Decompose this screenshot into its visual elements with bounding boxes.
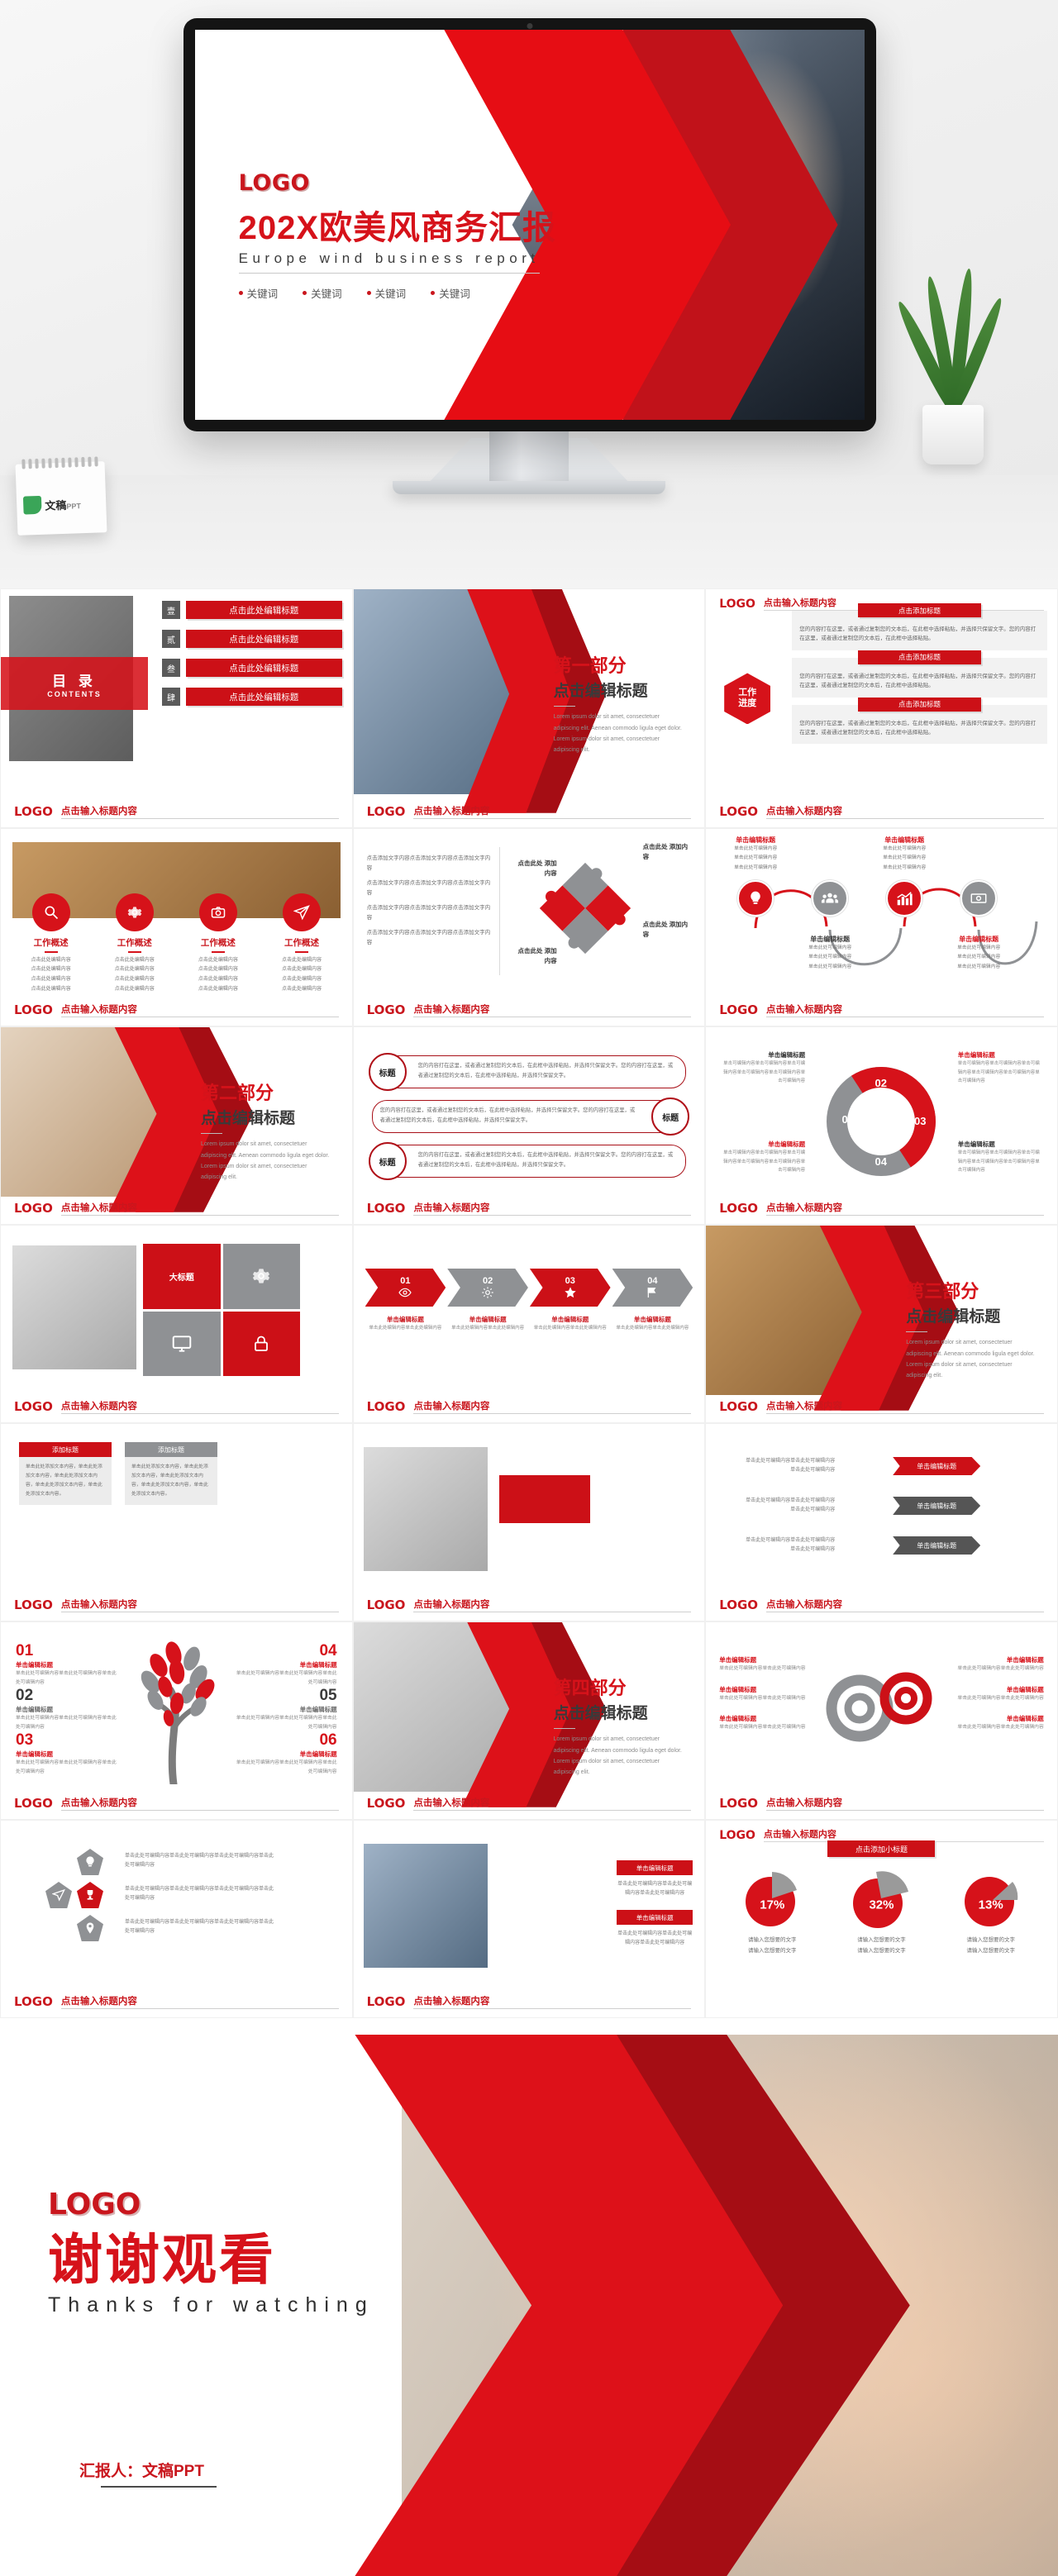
footer-title: 点击输入标题内容 (413, 1796, 691, 1811)
final-text-block: LOGO 谢谢观看 Thanks for watching (48, 2188, 374, 2317)
pentagon-send[interactable] (45, 1882, 72, 1908)
cycle-label: 单击编辑标题 单击可编辑内容单击可编辑内容单击可编辑内容单击可编辑内容单击可编辑… (719, 1140, 805, 1175)
pie-chart-cell[interactable]: 32% 请输入您想要的文字 请输入您想要的文字 (827, 1870, 936, 1956)
arrow-step[interactable]: 01 (365, 1269, 446, 1307)
thumbnail-tree-infographic[interactable]: 01 单击编辑标题 单击此处可编辑内容单击此处可编辑内容单击此处可编辑内容 02… (0, 1621, 353, 1820)
gear-item[interactable]: 单击编辑标题 单击此处可编辑内容单击此处可编辑内容 (719, 1714, 817, 1732)
bullet-dot-icon (239, 291, 243, 295)
slide-footer: LOGO 点击输入标题内容 (367, 804, 692, 819)
slide-footer: LOGO 点击输入标题内容 (719, 1399, 1044, 1414)
presenter-label: 汇报人：文稿PPT (79, 2459, 204, 2481)
title-circle-badge: 标题 (369, 1142, 407, 1180)
thumbnail-section-three[interactable]: 第三部分 点击编辑标题 Lorem ipsum dolor sit amet, … (705, 1225, 1058, 1423)
tile-grid: 大标题 (143, 1244, 300, 1376)
wave-flow-diagram: 单击编辑标题 单击此处可编辑内容 单击此处可编辑内容 单击此处可编辑内容 单击编… (706, 829, 1057, 1026)
camera-icon (199, 893, 237, 931)
thumbnail-puzzle[interactable]: 点击添加文字内容点击添加文字内容点击添加文字内容 点击添加文字内容点击添加文字内… (353, 828, 706, 1026)
cycle-number: 02 (875, 1077, 886, 1089)
tree-item-body: 单击此处可编辑内容单击此处可编辑内容单击此处可编辑内容 (16, 1714, 119, 1732)
arrow-step-caption: 单击编辑标题 单击此处编辑内容单击此处编辑内容 (612, 1315, 693, 1332)
arrow-step-caption: 单击编辑标题 单击此处编辑内容单击此处编辑内容 (530, 1315, 611, 1332)
gear-item[interactable]: 单击编辑标题 单击此处可编辑内容单击此处可编辑内容 (719, 1685, 817, 1703)
desk-calendar-watermark: 文稿PPT (16, 461, 107, 536)
footer-title: 点击输入标题内容 (413, 804, 691, 819)
gear-item-title: 单击编辑标题 (719, 1714, 817, 1723)
pie-caption: 请输入您想要的文字 请输入您想要的文字 (717, 1935, 827, 1956)
cycle-label-body: 单击可编辑内容单击可编辑内容单击可编辑内容单击可编辑内容单击可编辑内容单击可编辑… (719, 1149, 805, 1175)
keyword-label: 关键词 (247, 285, 279, 301)
tree-item-number: 01 (16, 1642, 119, 1660)
keyword-label: 关键词 (375, 285, 407, 301)
footer-title: 点击输入标题内容 (413, 1399, 691, 1414)
pie-chart-row: 17% 请输入您想要的文字 请输入您想要的文字 32% 请输入您想要的文字 (717, 1870, 1046, 1956)
footer-logo: LOGO (367, 1598, 406, 1612)
overview-cell[interactable]: 工作概述 点击此处编辑内容 点击此处编辑内容 点击此处编辑内容 点击此处编辑内容 (93, 893, 176, 994)
footer-title: 点击输入标题内容 (413, 1002, 691, 1017)
arrow-caption-title: 单击编辑标题 (447, 1315, 528, 1324)
arrow-step[interactable]: 02 (447, 1269, 528, 1307)
slide-footer: LOGO 点击输入标题内容 (719, 1796, 1044, 1811)
underline-rule (128, 951, 141, 953)
tile-lock[interactable] (223, 1312, 301, 1377)
arrow-step[interactable]: 03 (530, 1269, 611, 1307)
arrow-caption-body: 单击此处编辑内容单击此处编辑内容 (612, 1324, 693, 1332)
wave-label: 单击编辑标题 单击此处可编辑内容 单击此处可编辑内容 单击此处可编辑内容 (790, 935, 870, 972)
slide-footer: LOGO 点击输入标题内容 (367, 1598, 692, 1612)
gear-icon (116, 893, 154, 931)
slide-footer: LOGO 点击输入标题内容 (719, 1201, 1044, 1216)
pie-chart-caption: 点击添加小标题 (827, 1840, 935, 1857)
arrow-step-number: 02 (483, 1276, 493, 1286)
document-photo (364, 1844, 488, 1968)
tree-item-title: 单击编辑标题 (234, 1660, 337, 1669)
thumbnail-wave-flow[interactable]: 单击编辑标题 单击此处可编辑内容 单击此处可编辑内容 单击此处可编辑内容 单击编… (705, 828, 1058, 1026)
gear-item-body: 单击此处可编辑内容单击此处可编辑内容 (719, 1664, 817, 1674)
logo-text: LOGO (239, 170, 556, 196)
divider-rule (201, 1133, 222, 1135)
thumbnail-section-one[interactable]: 第一部分 点击编辑标题 Lorem ipsum dolor sit amet, … (353, 588, 706, 828)
section-title: 点击编辑标题 (554, 1701, 684, 1723)
hero-monitor-mockup: LOGO 202X欧美风商务汇报 Europe wind business re… (0, 0, 1058, 588)
tree-item-number: 05 (234, 1687, 337, 1705)
overview-cell-title: 工作概述 (176, 936, 260, 949)
footer-logo: LOGO (367, 1994, 406, 2009)
progress-hexagon: 工作 进度 (724, 673, 770, 724)
puzzle-paragraph: 点击添加文字内容点击添加文字内容点击添加文字内容 (367, 928, 491, 948)
toc-heading-cn: 目 录 (52, 669, 97, 690)
footer-logo: LOGO (367, 804, 406, 819)
puzzle-label: 点击此处 添加内容 (517, 946, 557, 965)
gear-item[interactable]: 单击编辑标题 单击此处可编辑内容单击此处可编辑内容 (946, 1685, 1044, 1703)
title-slide: LOGO 202X欧美风商务汇报 Europe wind business re… (195, 30, 865, 420)
gear-icon (250, 1265, 272, 1287)
progress-item-caption: 点击添加标题 (858, 650, 980, 664)
tree-item-body: 单击此处可编辑内容单击此处可编辑内容单击此处可编辑内容 (16, 1669, 119, 1688)
eye-icon (398, 1286, 412, 1299)
puzzle-label: 点击此处 添加内容 (643, 842, 693, 861)
footer-title: 点击输入标题内容 (766, 1399, 1044, 1414)
lock-icon (251, 1334, 271, 1354)
progress-item-text: 您的内容打在这里，或者通过复制您的文本后，在此框中选择粘贴，并选择只保留文字。您… (799, 625, 1040, 644)
star-icon (564, 1286, 577, 1299)
cycle-number: 03 (914, 1115, 926, 1127)
cycle-label: 单击编辑标题 单击可编辑内容单击可编辑内容单击可编辑内容单击可编辑内容单击可编辑… (719, 1050, 805, 1086)
tree-item[interactable]: 06 单击编辑标题 单击此处可编辑内容单击此处可编辑内容单击此处可编辑内容 (234, 1731, 337, 1777)
tree-item[interactable]: 04 单击编辑标题 单击此处可编辑内容单击此处可编辑内容单击此处可编辑内容 (234, 1642, 337, 1688)
page-title: 202X欧美风商务汇报 (239, 201, 556, 249)
arrow-caption-title: 单击编辑标题 (530, 1315, 611, 1324)
slide-footer: LOGO 点击输入标题内容 (14, 1201, 339, 1216)
pie-caption-line: 请输入您想要的文字 (717, 1945, 827, 1956)
footer-title: 点击输入标题内容 (413, 1201, 691, 1216)
section-body: Lorem ipsum dolor sit amet, consectetuer… (554, 712, 684, 755)
pie-caption-line: 请输入您想要的文字 (936, 1935, 1046, 1945)
keyword-label: 关键词 (439, 285, 470, 301)
thumbnail-gears[interactable]: 单击编辑标题 单击此处可编辑内容单击此处可编辑内容 单击编辑标题 单击此处可编辑… (705, 1621, 1058, 1820)
hexagon-line-1: 工作 (738, 688, 756, 699)
arrow-step-number: 04 (647, 1276, 657, 1286)
pentagon-trophy[interactable] (77, 1882, 103, 1908)
footer-title: 点击输入标题内容 (61, 1796, 339, 1811)
slide-footer: LOGO 点击输入标题内容 (719, 1002, 1044, 1017)
footer-logo: LOGO (367, 1399, 406, 1414)
wave-label-line: 单击此处可编辑内容 (939, 953, 1018, 962)
monitor-icon (171, 1333, 193, 1355)
gear-item-title: 单击编辑标题 (946, 1655, 1044, 1664)
tile-clock[interactable]: 大标题 (143, 1244, 221, 1309)
ribbon-note: 单击此处可编辑内容单击此处可编辑内容单击此处可编辑内容 (742, 1536, 835, 1555)
slide-footer: LOGO 点击输入标题内容 (719, 804, 1044, 819)
overview-cell-line: 点击此处编辑内容 (9, 985, 93, 995)
bubble-body: 单击此处添加文本内容，单击此处添加文本内容，单击此处添加文本内容，单击此处添加文… (125, 1457, 217, 1505)
tree-item-number: 02 (16, 1687, 119, 1705)
thumbnail-speech-bubbles[interactable]: 添加标题 单击此处添加文本内容，单击此处添加文本内容，单击此处添加文本内容，单击… (0, 1423, 353, 1621)
cycle-label: 单击编辑标题 单击可编辑内容单击可编辑内容单击可编辑内容单击可编辑内容单击可编辑… (958, 1140, 1044, 1175)
footer-title: 点击输入标题内容 (413, 1994, 691, 2009)
tree-item-title: 单击编辑标题 (16, 1750, 119, 1759)
slide-footer: LOGO 点击输入标题内容 (367, 1399, 692, 1414)
section-text: 第一部分 点击编辑标题 Lorem ipsum dolor sit amet, … (554, 651, 684, 756)
brand-name-en: PPT (66, 502, 81, 511)
toc-row[interactable]: 贰 点击此处编辑标题 (162, 630, 342, 648)
thanks-title-cn: 谢谢观看 (48, 2231, 374, 2288)
wave-label-line: 单击此处可编辑内容 (716, 845, 795, 854)
cycle-label-title: 单击编辑标题 (719, 1050, 805, 1059)
hexagon-line-2: 进度 (738, 698, 756, 710)
pie-percent-label: 13% (979, 1897, 1003, 1912)
monitor-stand-neck (489, 431, 569, 483)
tree-item-number: 06 (234, 1731, 337, 1750)
cycle-label-body: 单击可编辑内容单击可编辑内容单击可编辑内容单击可编辑内容单击可编辑内容单击可编辑… (719, 1059, 805, 1086)
monitor-stand-base (393, 481, 665, 494)
document-note: 单击此处可编辑内容单击此处可编辑内容单击此处可编辑内容 (617, 1880, 693, 1899)
money-icon (960, 880, 997, 917)
document-tag[interactable]: 单击编辑标题 (617, 1910, 693, 1925)
gear-item[interactable]: 单击编辑标题 单击此处可编辑内容单击此处可编辑内容 (946, 1714, 1044, 1732)
tile-monitor[interactable] (143, 1312, 221, 1377)
thumbnail-document[interactable]: LOGO 点击输入标题内容 (353, 1423, 706, 1621)
overview-cell-title: 工作概述 (9, 936, 93, 949)
footer-logo: LOGO (719, 1598, 758, 1612)
thumbnail-icon-tiles[interactable]: 大标题 LOGO 点击输入标题内容 (0, 1225, 353, 1423)
footer-title: 点击输入标题内容 (766, 1796, 1044, 1811)
toc-row-number: 壹 (162, 601, 180, 619)
document-note: 单击此处可编辑内容单击此处可编辑内容单击此处可编辑内容 (617, 1930, 693, 1949)
wave-label-line: 单击此处可编辑内容 (939, 963, 1018, 972)
underline-rule (45, 951, 58, 953)
section-divider: 第一部分 点击编辑标题 Lorem ipsum dolor sit amet, … (354, 589, 705, 827)
tiles-photo (12, 1245, 136, 1369)
bubble-right[interactable]: 添加标题 单击此处添加文本内容，单击此处添加文本内容，单击此处添加文本内容，单击… (125, 1442, 217, 1505)
thumbnail-section-four[interactable]: 第四部分 点击编辑标题 Lorem ipsum dolor sit amet, … (353, 1621, 706, 1820)
gear-icon (481, 1286, 494, 1299)
section-text: 第四部分 点击编辑标题 Lorem ipsum dolor sit amet, … (554, 1674, 684, 1778)
overview-cell[interactable]: 工作概述 点击此处编辑内容 点击此处编辑内容 点击此处编辑内容 点击此处编辑内容 (9, 893, 93, 994)
overview-cell-line: 点击此处编辑内容 (93, 956, 176, 966)
gear-item-body: 单击此处可编辑内容单击此处可编辑内容 (946, 1723, 1044, 1732)
underline-rule (212, 951, 225, 953)
chart-icon (886, 880, 922, 917)
vertical-divider (499, 847, 500, 975)
tree-graphic (122, 1636, 230, 1784)
footer-title: 点击输入标题内容 (61, 1994, 339, 2009)
progress-item[interactable]: 点击添加标题 您的内容打在这里，或者通过复制您的文本后，在此框中选择粘贴，并选择… (792, 658, 1047, 698)
underline-rule (295, 951, 308, 953)
tree-item-title: 单击编辑标题 (16, 1660, 119, 1669)
section-title: 点击编辑标题 (554, 679, 684, 701)
gear-item-title: 单击编辑标题 (946, 1685, 1044, 1694)
section-text: 第三部分 点击编辑标题 Lorem ipsum dolor sit amet, … (906, 1277, 1036, 1382)
bulb-icon (737, 880, 774, 917)
overview-cell[interactable]: 工作概述 点击此处编辑内容 点击此处编辑内容 点击此处编辑内容 点击此处编辑内容 (176, 893, 260, 994)
footer-title: 点击输入标题内容 (61, 1002, 339, 1017)
slide-footer: LOGO 点击输入标题内容 (367, 1002, 692, 1017)
slide-footer: LOGO 点击输入标题内容 (14, 1002, 339, 1017)
toc-row-list: 壹 点击此处编辑标题 贰 点击此处编辑标题 叁 点击此处编辑标题 肆 点击此处编… (162, 601, 342, 717)
thumbnail-arrow-steps[interactable]: 01 02 03 04 单击编辑标题 单击此处编辑内容单击此处编辑内容 (353, 1225, 706, 1423)
overview-cell-line: 点击此处编辑内容 (93, 985, 176, 995)
toc-heading: 目 录 CONTENTS (1, 657, 148, 710)
section-title: 点击编辑标题 (906, 1304, 1036, 1326)
send-icon (52, 1888, 65, 1902)
overview-cell-line: 点击此处编辑内容 (260, 965, 343, 975)
bubble-left[interactable]: 添加标题 单击此处添加文本内容，单击此处添加文本内容，单击此处添加文本内容，单击… (19, 1442, 112, 1505)
ribbon-item[interactable]: 单击编辑标题 (893, 1497, 980, 1515)
cycle-number: 01 (841, 1113, 853, 1126)
arrow-step-number: 01 (400, 1276, 410, 1286)
wave-label-line: 单击此处可编辑内容 (865, 854, 944, 863)
arrow-caption-body: 单击此处编辑内容单击此处编辑内容 (530, 1324, 611, 1332)
puzzle-label: 点击此处 添加内容 (643, 920, 693, 939)
title-slide-text: LOGO 202X欧美风商务汇报 Europe wind business re… (239, 170, 556, 301)
pentagon-note: 单击此处可编辑内容单击此处可编辑内容单击此处可编辑内容单击此处可编辑内容 (125, 1885, 274, 1904)
overview-cell[interactable]: 工作概述 点击此处编辑内容 点击此处编辑内容 点击此处编辑内容 点击此处编辑内容 (260, 893, 343, 994)
gear-item[interactable]: 单击编辑标题 单击此处可编辑内容单击此处可编辑内容 (719, 1655, 817, 1674)
toc-row[interactable]: 叁 点击此处编辑标题 (162, 659, 342, 677)
overview-cell-line: 点击此处编辑内容 (176, 975, 260, 985)
footer-logo: LOGO (719, 1201, 758, 1216)
gear-item-body: 单击此处可编辑内容单击此处可编辑内容 (946, 1694, 1044, 1703)
bullet-dot-icon (431, 291, 435, 295)
title-circle-text: 您的内容打在这里，或者通过复制您的文本后，在此框中选择粘贴，并选择只保留文字。您… (380, 1106, 641, 1126)
monitor-bezel: LOGO 202X欧美风商务汇报 Europe wind business re… (183, 18, 876, 431)
keyword-item: 关键词 (303, 285, 342, 301)
thumbnail-pie-charts[interactable]: LOGO 点击输入标题内容 点击添加小标题 17% 请输入您想要的文字 请输入您… (705, 1820, 1058, 2018)
footer-title: 点击输入标题内容 (61, 1399, 339, 1414)
footer-logo: LOGO (719, 1796, 758, 1811)
keyword-item: 关键词 (431, 285, 470, 301)
ribbon-note: 单击此处可编辑内容单击此处可编辑内容单击此处可编辑内容 (742, 1457, 835, 1476)
slide-footer: LOGO 点击输入标题内容 (14, 1994, 339, 2009)
progress-item[interactable]: 点击添加标题 您的内容打在这里，或者通过复制您的文本后，在此框中选择粘贴，并选择… (792, 611, 1047, 650)
section-text: 第二部分 点击编辑标题 Lorem ipsum dolor sit amet, … (201, 1078, 331, 1183)
thumbnail-work-progress[interactable]: LOGO 点击输入标题内容 工作 进度 点击添加标题 您的内容打在这里，或者通过… (705, 588, 1058, 828)
thumbnail-section-two[interactable]: 第二部分 点击编辑标题 Lorem ipsum dolor sit amet, … (0, 1026, 353, 1225)
ribbon-note: 单击此处可编辑内容单击此处可编辑内容单击此处可编辑内容 (742, 1497, 835, 1516)
cycle-number: 04 (875, 1155, 886, 1168)
progress-item-text: 您的内容打在这里，或者通过复制您的文本后，在此框中选择粘贴，并选择只保留文字。您… (799, 719, 1040, 738)
footer-title: 点击输入标题内容 (766, 1201, 1044, 1216)
overview-cell-line: 点击此处编辑内容 (93, 965, 176, 975)
section-divider: 第二部分 点击编辑标题 Lorem ipsum dolor sit amet, … (1, 1027, 352, 1224)
thumbnail-ribbons[interactable]: 单击编辑标题 单击编辑标题 单击编辑标题 单击此处可编辑内容单击此处可编辑内容单… (705, 1423, 1058, 1621)
slide-thumbnail-grid: 目 录 CONTENTS 壹 点击此处编辑标题 贰 点击此处编辑标题 叁 点击此… (0, 588, 1058, 2018)
wave-label-line: 单击此处可编辑内容 (716, 854, 795, 863)
arrow-step[interactable]: 04 (612, 1269, 693, 1307)
overview-cell-title: 工作概述 (93, 936, 176, 949)
section-divider: 第三部分 点击编辑标题 Lorem ipsum dolor sit amet, … (706, 1226, 1057, 1422)
tree-item[interactable]: 03 单击编辑标题 单击此处可编辑内容单击此处可编辑内容单击此处可编辑内容 (16, 1731, 119, 1777)
gear-item-title: 单击编辑标题 (719, 1685, 817, 1694)
title-circle-row[interactable]: 标题 您的内容打在这里，或者通过复制您的文本后，在此框中选择粘贴，并选择只保留文… (372, 1100, 687, 1133)
page-subtitle: Europe wind business report (239, 250, 540, 274)
cycle-label-body: 单击可编辑内容单击可编辑内容单击可编辑内容单击可编辑内容单击可编辑内容单击可编辑… (958, 1149, 1044, 1175)
cycle-label-title: 单击编辑标题 (958, 1140, 1044, 1149)
wave-label-title: 单击编辑标题 (939, 935, 1018, 944)
footer-logo: LOGO (14, 1399, 53, 1414)
toc-row[interactable]: 肆 点击此处编辑标题 (162, 688, 342, 706)
gear-item-title: 单击编辑标题 (946, 1714, 1044, 1723)
title-circle-row[interactable]: 标题 您的内容打在这里，或者通过复制您的文本后，在此框中选择粘贴，并选择只保留文… (372, 1055, 687, 1088)
gears-right-column: 单击编辑标题 单击此处可编辑内容单击此处可编辑内容 单击编辑标题 单击此处可编辑… (946, 1655, 1044, 1744)
toc-row-number: 贰 (162, 630, 180, 648)
section-part-label: 第四部分 (554, 1674, 684, 1700)
overview-cell-line: 点击此处编辑内容 (260, 956, 343, 966)
pie-caption: 请输入您想要的文字 请输入您想要的文字 (936, 1935, 1046, 1956)
tree-item[interactable]: 01 单击编辑标题 单击此处可编辑内容单击此处可编辑内容单击此处可编辑内容 (16, 1642, 119, 1688)
slide-footer: LOGO 点击输入标题内容 (367, 1201, 692, 1216)
progress-item-caption: 点击添加标题 (858, 603, 980, 617)
progress-item[interactable]: 点击添加标题 您的内容打在这里，或者通过复制您的文本后，在此框中选择粘贴，并选择… (792, 705, 1047, 745)
overview-cell-list: 工作概述 点击此处编辑内容 点击此处编辑内容 点击此处编辑内容 点击此处编辑内容… (9, 893, 344, 994)
ribbon-item[interactable]: 单击编辑标题 (893, 1536, 980, 1555)
toc-row-label: 点击此处编辑标题 (186, 630, 342, 648)
footer-title: 点击输入标题内容 (766, 1598, 1044, 1612)
arrow-step-number: 03 (565, 1276, 575, 1286)
footer-logo: LOGO (14, 1002, 53, 1017)
bullet-dot-icon (367, 291, 371, 295)
footer-logo: LOGO (14, 1598, 53, 1612)
tree-item[interactable]: 05 单击编辑标题 单击此处可编辑内容单击此处可编辑内容单击此处可编辑内容 (234, 1687, 337, 1732)
slide-footer: LOGO 点击输入标题内容 (719, 1598, 1044, 1612)
section-part-label: 第二部分 (201, 1078, 331, 1105)
cycle-label: 单击编辑标题 单击可编辑内容单击可编辑内容单击可编辑内容单击可编辑内容单击可编辑… (958, 1050, 1044, 1086)
tree-item-body: 单击此处可编辑内容单击此处可编辑内容单击此处可编辑内容 (16, 1759, 119, 1777)
title-circle-badge: 标题 (369, 1053, 407, 1091)
pentagon-pin[interactable] (77, 1915, 103, 1941)
tree-item-number: 04 (234, 1642, 337, 1660)
thumbnail-cycle-diagram[interactable]: 01 02 03 04 单击编辑标题 单击可编辑内容单击可编辑内容单击可编辑内容… (705, 1026, 1058, 1225)
keyword-label: 关键词 (311, 285, 342, 301)
wave-label-title: 单击编辑标题 (790, 935, 870, 944)
slide-footer: LOGO 点击输入标题内容 (367, 1796, 692, 1811)
footer-title: 点击输入标题内容 (61, 1598, 339, 1612)
thumbnail-document-tags[interactable]: 单击编辑标题 单击编辑标题 单击此处可编辑内容单击此处可编辑内容单击此处可编辑内… (353, 1820, 706, 2018)
footer-logo: LOGO (719, 1002, 758, 1017)
keyword-list: 关键词 关键词 关键词 关键词 (239, 285, 556, 301)
bullet-dot-icon (303, 291, 307, 295)
thumbnail-work-overview[interactable]: 工作概述 点击此处编辑内容 点击此处编辑内容 点击此处编辑内容 点击此处编辑内容… (0, 828, 353, 1026)
overview-cell-line: 点击此处编辑内容 (260, 985, 343, 995)
document-tag[interactable]: 单击编辑标题 (617, 1860, 693, 1875)
keyword-item: 关键词 (239, 285, 279, 301)
progress-item-list: 点击添加标题 您的内容打在这里，或者通过复制您的文本后，在此框中选择粘贴，并选择… (792, 611, 1047, 751)
thumbnail-title-circles[interactable]: 标题 您的内容打在这里，或者通过复制您的文本后，在此框中选择粘贴，并选择只保留文… (353, 1026, 706, 1225)
pentagon-note: 单击此处可编辑内容单击此处可编辑内容单击此处可编辑内容单击此处可编辑内容 (125, 1918, 274, 1937)
ribbon-item[interactable]: 单击编辑标题 (893, 1457, 980, 1475)
bubble-caption: 添加标题 (125, 1442, 217, 1457)
pie-percent-label: 17% (760, 1897, 784, 1912)
puzzle-label: 点击此处 添加内容 (517, 859, 557, 878)
pin-icon (83, 1921, 97, 1935)
title-circle-row[interactable]: 标题 您的内容打在这里，或者通过复制您的文本后，在此框中选择粘贴，并选择只保留文… (372, 1145, 687, 1178)
wave-label-title: 单击编辑标题 (865, 836, 944, 845)
divider-rule (906, 1331, 927, 1333)
pie-chart-graphic: 17% (742, 1870, 802, 1930)
gear-item-body: 单击此处可编辑内容单击此处可编辑内容 (946, 1664, 1044, 1674)
puzzle-paragraph: 点击添加文字内容点击添加文字内容点击添加文字内容 (367, 903, 491, 923)
section-divider: 第四部分 点击编辑标题 Lorem ipsum dolor sit amet, … (354, 1622, 705, 1819)
header-logo: LOGO (719, 598, 755, 611)
section-part-label: 第三部分 (906, 1277, 1036, 1303)
tree-item-title: 单击编辑标题 (234, 1705, 337, 1714)
thanks-title-en: Thanks for watching (48, 2293, 374, 2317)
thumbnail-toc[interactable]: 目 录 CONTENTS 壹 点击此处编辑标题 贰 点击此处编辑标题 叁 点击此… (0, 588, 353, 828)
gear-item-body: 单击此处可编辑内容单击此处可编辑内容 (719, 1694, 817, 1703)
pie-chart-cell[interactable]: 17% 请输入您想要的文字 请输入您想要的文字 (717, 1870, 827, 1956)
tile-gear[interactable] (223, 1244, 301, 1309)
bubble-caption: 添加标题 (19, 1442, 112, 1457)
plant-pot (922, 405, 984, 464)
overview-cell-line: 点击此处编辑内容 (9, 965, 93, 975)
footer-logo: LOGO (719, 1399, 758, 1414)
brand-logo: 文稿PPT (22, 479, 100, 528)
toc-row-number: 叁 (162, 659, 180, 677)
wave-label-line: 单击此处可编辑内容 (790, 944, 870, 953)
gear-item[interactable]: 单击编辑标题 单击此处可编辑内容单击此处可编辑内容 (946, 1655, 1044, 1674)
document-red-card (499, 1475, 590, 1523)
pie-chart-cell[interactable]: 13% 请输入您想要的文字 请输入您想要的文字 (936, 1870, 1046, 1956)
arrow-step-caption: 单击编辑标题 单击此处编辑内容单击此处编辑内容 (365, 1315, 446, 1332)
thumbnail-pentagon-steps[interactable]: 单击此处可编辑内容单击此处可编辑内容单击此处可编辑内容单击此处可编辑内容 单击此… (0, 1820, 353, 2018)
arrow-caption-title: 单击编辑标题 (612, 1315, 693, 1324)
tree-item[interactable]: 02 单击编辑标题 单击此处可编辑内容单击此处可编辑内容单击此处可编辑内容 (16, 1687, 119, 1732)
puzzle-paragraph: 点击添加文字内容点击添加文字内容点击添加文字内容 (367, 854, 491, 874)
pentagon-bulb[interactable] (77, 1849, 103, 1875)
pie-caption-line: 请输入您想要的文字 (717, 1935, 827, 1945)
tree-icon (122, 1636, 230, 1784)
toc-row[interactable]: 壹 点击此处编辑标题 (162, 601, 342, 619)
